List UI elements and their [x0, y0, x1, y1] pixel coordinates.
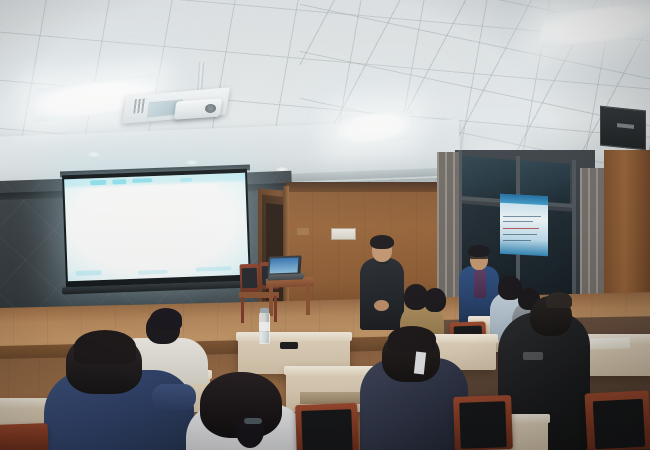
chair-pad [301, 409, 353, 450]
attendee-white-shirt-hair [150, 308, 182, 330]
attendee-partial-head [424, 288, 446, 312]
wall-marking [297, 228, 309, 235]
wall-speaker [600, 106, 646, 151]
wall-plaque [331, 228, 356, 240]
side-table-leg [306, 285, 310, 315]
stage-chair-leg [274, 296, 277, 322]
attendee-navy-suit-hair [388, 326, 436, 352]
downlight-icon [186, 160, 198, 165]
screen-content-blob [90, 180, 106, 186]
screen-content-blob [180, 178, 192, 182]
screen-content-blob [76, 270, 102, 276]
downlight-icon [88, 152, 100, 157]
desk-top [236, 332, 352, 341]
monitor-text-line [503, 240, 531, 241]
chair-pad [459, 401, 507, 449]
side-table-leg [269, 286, 273, 316]
screen-content-blob [195, 266, 231, 271]
presenter-dark-jacket-body [360, 258, 404, 330]
monitor-text-line [503, 221, 533, 222]
presenter-dark-jacket-hands [374, 300, 389, 311]
projector-vent [133, 98, 147, 113]
chair [0, 423, 49, 450]
laptop-screen [269, 257, 298, 273]
stage-chair-seat [239, 292, 279, 298]
hoodie-zipper-detail [523, 352, 543, 360]
hair-tie-icon [244, 418, 262, 424]
paper-sheet [586, 337, 630, 350]
monitor-text-line [503, 216, 541, 217]
mobile-phone [280, 342, 298, 349]
water-bottle-label [259, 322, 270, 331]
glasses-icon [470, 255, 488, 259]
monitor-text-line-highlight [503, 228, 539, 229]
attendee-blue-jacket-foreground-hair [74, 330, 136, 364]
attendee-black-hoodie-hair [546, 292, 572, 308]
projection-screen [62, 169, 251, 288]
screen-content-blob [132, 178, 152, 183]
presenter-blue-jacket-shirt [474, 268, 486, 298]
water-bottle-cap [260, 308, 269, 313]
monitor-text-line [503, 234, 537, 235]
screen-content-blob [138, 270, 168, 275]
presenter-dark-jacket-hair [370, 235, 394, 249]
light-panel-center-icon [335, 110, 413, 145]
chair-pad [593, 399, 645, 450]
projection-screen-surface [64, 173, 249, 282]
stage-chair-leg [241, 297, 244, 323]
attendee-blue-jacket-arm [152, 384, 196, 410]
screen-content-blob [112, 179, 126, 185]
meeting-room-photograph [0, 0, 650, 450]
stage-chair-left-pad [242, 268, 258, 289]
